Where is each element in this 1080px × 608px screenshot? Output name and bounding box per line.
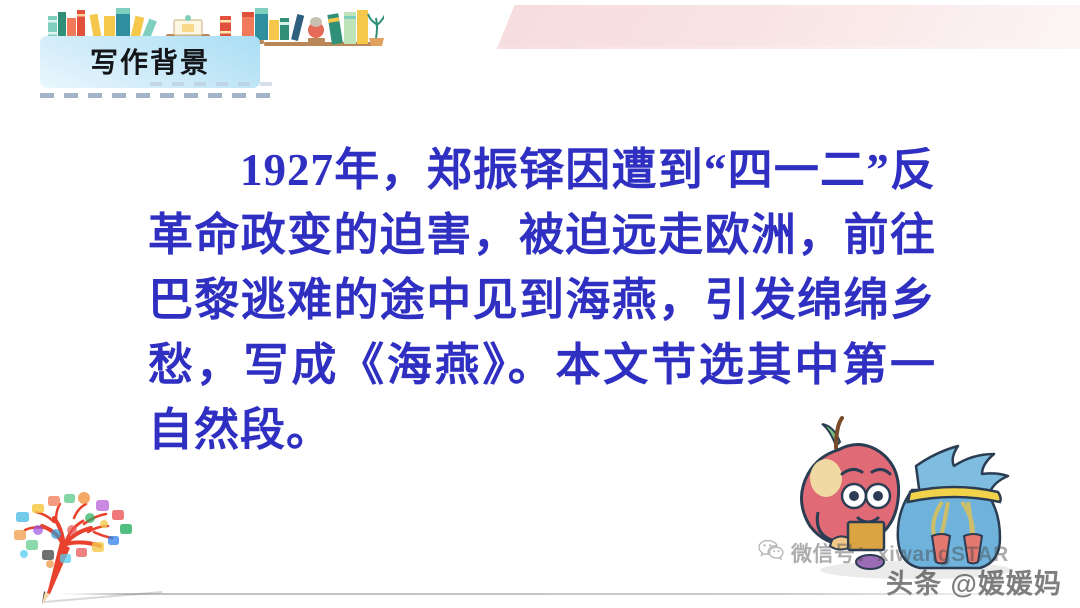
section-title-chip: 写作背景 [40,36,260,88]
wechat-icon [758,539,784,567]
pink-ribbon-decoration [498,5,1080,46]
toutiao-watermark-text: 头条 @媛媛妈 [886,562,1062,601]
title-underline-faint [150,82,280,86]
pencil-tree-illustration [4,486,164,608]
title-underline-dashed [40,93,272,98]
slide-canvas: 写作背景 1927年，郑振铎因遭到“四一二”反革命政变的迫害，被迫远走欧洲，前往… [0,0,1080,608]
page-title: 写作背景 [40,41,260,81]
bottom-divider [62,593,1072,595]
